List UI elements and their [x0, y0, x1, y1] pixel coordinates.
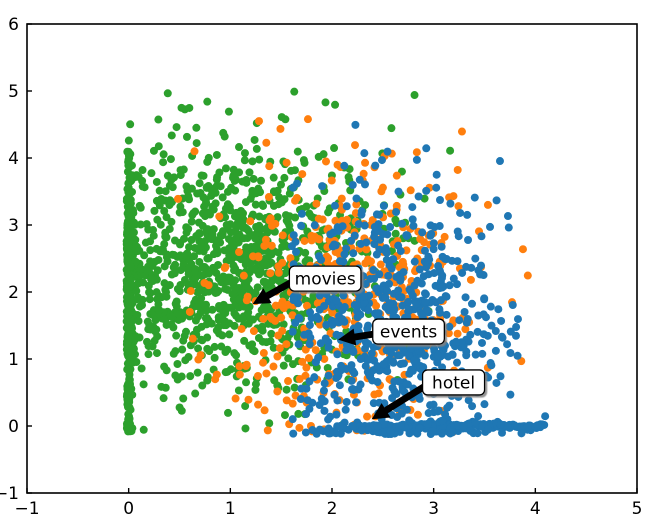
scatter-plot-canvas[interactable]: −1012345−10123456 movieseventshotel	[0, 0, 650, 529]
y-tick-label: 1	[8, 350, 19, 370]
y-tick-label: 4	[8, 149, 19, 169]
y-tick-label: 2	[8, 283, 19, 303]
x-tick-label: 2	[327, 499, 338, 519]
x-tick-label: 4	[530, 499, 541, 519]
annotation-label-movies: movies	[295, 270, 356, 290]
matplotlib-figure: −1012345−10123456 movieseventshotel	[0, 0, 650, 529]
y-tick-label: −1	[0, 484, 19, 504]
x-tick-label: 3	[428, 499, 439, 519]
y-tick-label: 0	[8, 417, 19, 437]
x-tick-label: 0	[123, 499, 134, 519]
y-tick-label: 3	[8, 216, 19, 236]
annotation-label-hotel: hotel	[432, 373, 475, 393]
y-tick-label: 5	[8, 82, 19, 102]
annotation-label-events: events	[380, 323, 437, 343]
x-tick-label: 5	[632, 499, 643, 519]
y-tick-label: 6	[8, 15, 19, 35]
x-tick-label: 1	[225, 499, 236, 519]
